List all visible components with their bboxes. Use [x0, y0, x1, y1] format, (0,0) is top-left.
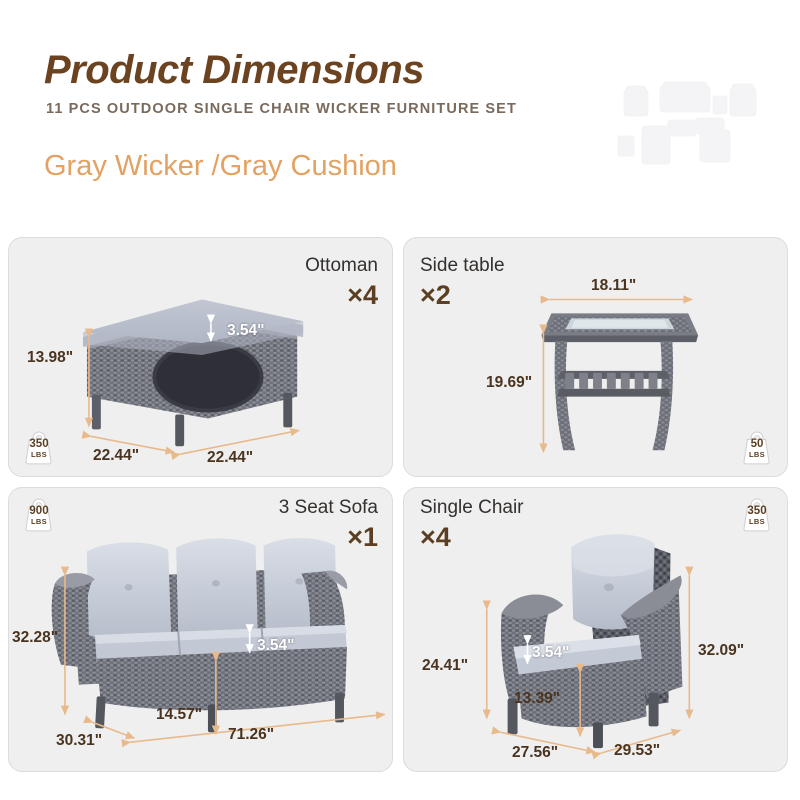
page-title: Product Dimensions	[44, 48, 424, 93]
chair-dim-arm-height: 24.41"	[422, 658, 468, 674]
ottoman-dim-height: 13.98"	[27, 350, 73, 366]
chair-dim-depth: 29.53"	[614, 743, 660, 759]
sofa-label: 3 Seat Sofa	[279, 498, 378, 517]
sidetable-weight-value: 50	[737, 439, 777, 451]
sidetable-dim-height: 19.69"	[486, 375, 532, 391]
chair-quantity: ×4	[420, 524, 524, 551]
chair-label: Single Chair	[420, 498, 524, 517]
chair-weight-value: 350	[737, 506, 777, 518]
infographic-root: Product Dimensions 11 PCS OUTDOOR SINGLE…	[0, 0, 800, 800]
panel-ottoman[interactable]: Ottoman ×4 350 LBS 3.54" 13.98" 22.44" 2…	[8, 237, 393, 477]
page-subtitle: 11 PCS OUTDOOR SINGLE CHAIR WICKER FURNI…	[46, 101, 517, 117]
sidetable-quantity: ×2	[420, 282, 505, 309]
sofa-dim-width: 71.26"	[228, 727, 274, 743]
ottoman-quantity: ×4	[305, 282, 378, 309]
ottoman-label: Ottoman	[305, 256, 378, 275]
chair-weight-badge: 350 LBS	[737, 493, 777, 535]
sofa-weight-value: 900	[19, 506, 59, 518]
color-variant-heading: Gray Wicker /Gray Cushion	[44, 150, 397, 183]
sidetable-label: Side table	[420, 256, 505, 275]
chair-heading: Single Chair ×4	[420, 498, 524, 551]
chair-dim-seat-height: 13.39"	[514, 691, 560, 707]
sidetable-heading: Side table ×2	[420, 256, 505, 309]
chair-weight-unit: LBS	[737, 518, 777, 526]
sofa-weight-badge: 900 LBS	[19, 493, 59, 535]
panel-chair[interactable]: Single Chair ×4 350 LBS 3.54" 24.41" 13.…	[403, 487, 788, 772]
sofa-quantity: ×1	[279, 524, 378, 551]
ottoman-dim-depth: 22.44"	[93, 448, 139, 464]
sofa-weight-unit: LBS	[19, 518, 59, 526]
sofa-dim-height: 32.28"	[12, 630, 58, 646]
ottoman-weight-badge: 350 LBS	[19, 426, 59, 468]
chair-dim-width: 27.56"	[512, 745, 558, 761]
sofa-dim-depth: 30.31"	[56, 733, 102, 749]
sidetable-dim-width: 18.11"	[591, 278, 636, 294]
panel-sidetable[interactable]: Side table ×2 50 LBS 18.11" 19.69"	[403, 237, 788, 477]
chair-dim-height: 32.09"	[698, 643, 744, 659]
panel-sofa[interactable]: 3 Seat Sofa ×1 900 LBS 32.28" 3.54" 14.5…	[8, 487, 393, 772]
ottoman-weight-value: 350	[19, 439, 59, 451]
sofa-heading: 3 Seat Sofa ×1	[279, 498, 378, 551]
header: Product Dimensions 11 PCS OUTDOOR SINGLE…	[0, 0, 800, 225]
ottoman-dim-width: 22.44"	[207, 450, 253, 466]
ottoman-weight-unit: LBS	[19, 451, 59, 459]
sidetable-weight-badge: 50 LBS	[737, 426, 777, 468]
ottoman-heading: Ottoman ×4	[305, 256, 378, 309]
ottoman-dim-cushion: 3.54"	[227, 323, 265, 339]
chair-dim-cushion: 3.54"	[532, 645, 570, 661]
sidetable-weight-unit: LBS	[737, 451, 777, 459]
furniture-set-ghost-icon	[608, 68, 788, 174]
sofa-dim-seat-height: 14.57"	[156, 707, 202, 723]
sofa-dim-cushion: 3.54"	[257, 638, 295, 654]
